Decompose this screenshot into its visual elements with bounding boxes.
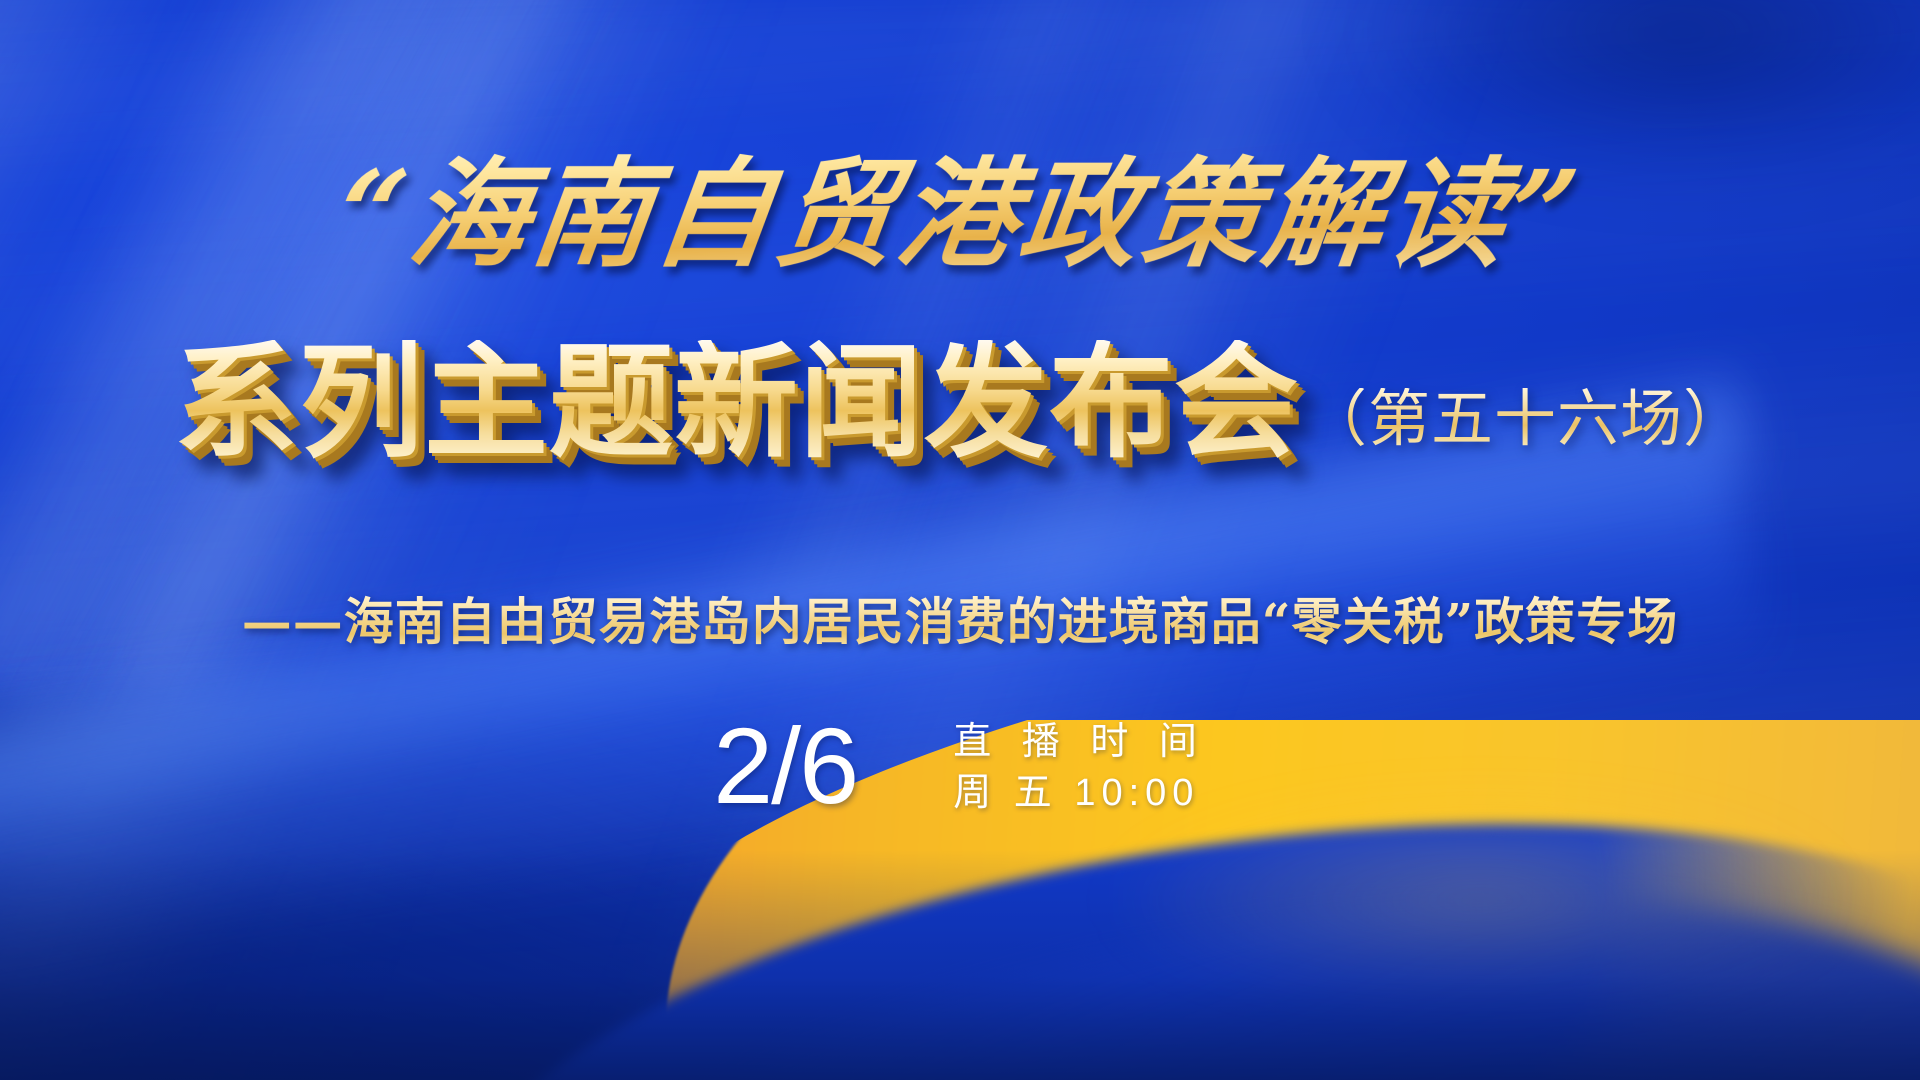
schedule-block: 2/6 直 播 时 间 周 五 10:00: [0, 712, 1920, 820]
broadcast-date: 2/6: [713, 712, 857, 820]
broadcast-time-label: 直 播 时 间: [953, 720, 1207, 765]
poster-subtitle: ——海南自由贸易港岛内居民消费的进境商品“零关税”政策专场: [0, 582, 1920, 654]
headline-calligraphy: “海南自贸港政策解读”: [0, 148, 1920, 280]
poster-canvas: “海南自贸港政策解读” 系列主题新闻发布会 （第五十六场） ——海南自由贸易港岛…: [0, 0, 1920, 1080]
broadcast-time-value: 周 五 10:00: [953, 771, 1207, 816]
headline-main-row: 系列主题新闻发布会 （第五十六场）: [0, 340, 1920, 466]
headline-session-number: （第五十六场）: [1305, 388, 1746, 450]
broadcast-time-column: 直 播 时 间 周 五 10:00: [953, 716, 1207, 816]
poster-content: “海南自贸港政策解读” 系列主题新闻发布会 （第五十六场） ——海南自由贸易港岛…: [0, 0, 1920, 1080]
headline-main: 系列主题新闻发布会: [174, 340, 1299, 466]
